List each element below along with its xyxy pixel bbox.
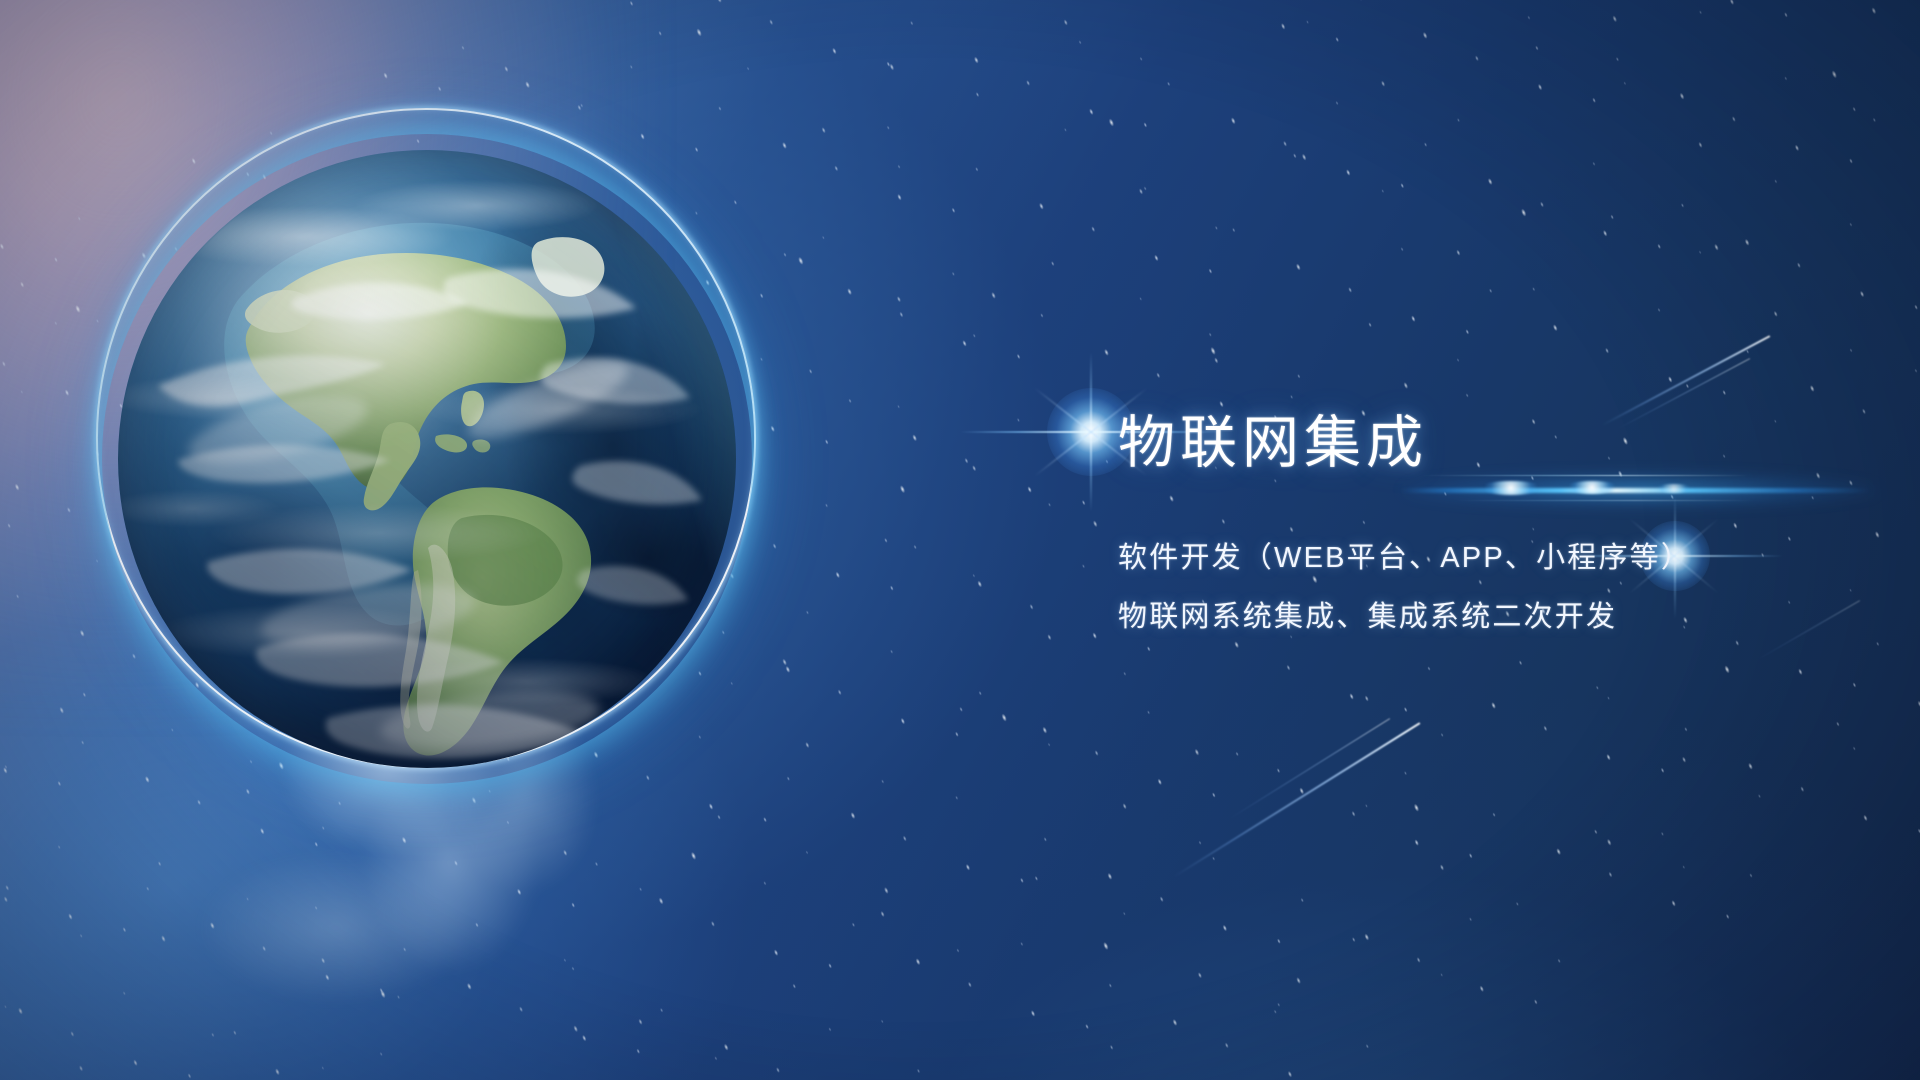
banner-title: 物联网集成	[1118, 415, 1858, 472]
iot-integration-banner: 物联网集成 软件开发（WEB平台、APP、小程序等） 物联网系统集成、集成系统二…	[0, 0, 1920, 1080]
earth-globe	[118, 150, 736, 768]
cloud-layer	[118, 150, 736, 768]
banner-subtitle-1: 软件开发（WEB平台、APP、小程序等）	[1118, 544, 1858, 573]
globe-sphere	[118, 150, 736, 768]
banner-text-block: 物联网集成 软件开发（WEB平台、APP、小程序等） 物联网系统集成、集成系统二…	[1118, 415, 1858, 632]
banner-subtitle-2: 物联网系统集成、集成系统二次开发	[1118, 603, 1858, 632]
